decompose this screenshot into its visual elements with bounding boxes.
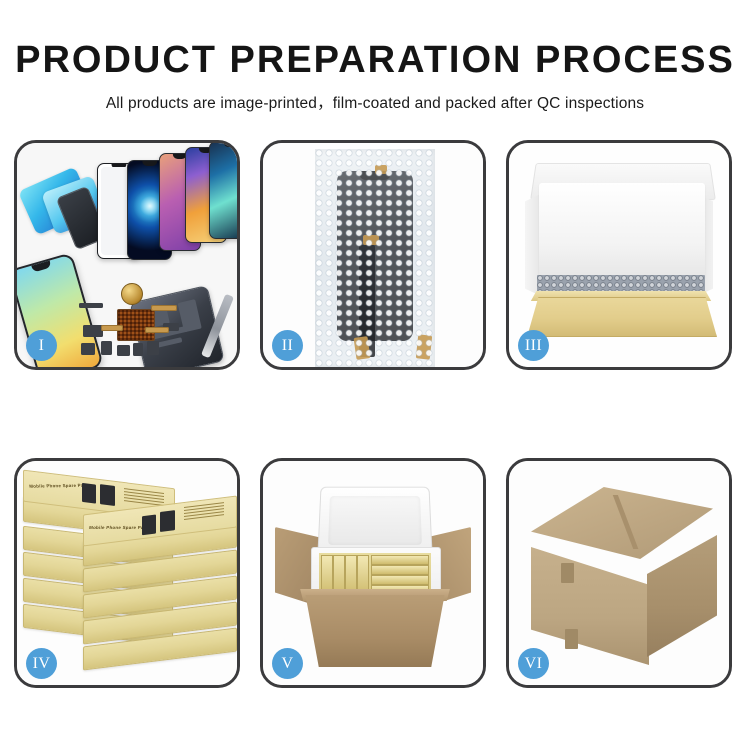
carton-top-face — [531, 487, 713, 559]
carton-front-face — [531, 547, 649, 665]
foam-box-lid — [317, 487, 432, 556]
carton-flap-tab — [561, 563, 574, 583]
bubble-texture — [315, 149, 435, 367]
process-step-panel-5: V — [260, 458, 486, 688]
step-badge-5: V — [272, 648, 303, 679]
process-step-panel-6: VI — [506, 458, 732, 688]
step-badge-3: III — [518, 330, 549, 361]
part-clip — [101, 341, 112, 355]
step-badge-1: I — [26, 330, 57, 361]
spare-parts-cluster — [79, 283, 199, 367]
bubble-wrap-bag — [315, 149, 435, 367]
part-strip — [79, 303, 103, 308]
process-step-panel-2: II — [260, 140, 486, 370]
carton-body — [301, 595, 449, 667]
step-badge-6: VI — [518, 648, 549, 679]
packed-boxes-inside — [319, 553, 431, 595]
part-bracket — [83, 325, 103, 337]
step-badge-2: II — [272, 330, 303, 361]
process-step-panel-1: I — [14, 140, 240, 370]
product-preparation-page: PRODUCT PREPARATION PROCESS All products… — [0, 0, 750, 750]
process-step-panel-4: Mobile Phone Spare Parts Mobile Phone Sp… — [14, 458, 240, 688]
product-photo-swatch — [100, 484, 115, 506]
phone-notch — [142, 161, 157, 166]
carton-side-face — [647, 535, 717, 657]
product-photo-swatch — [82, 483, 96, 504]
page-header: PRODUCT PREPARATION PROCESS All products… — [0, 0, 750, 114]
box-front-face — [527, 297, 717, 337]
page-title: PRODUCT PREPARATION PROCESS — [0, 38, 750, 82]
flex-cable-c — [145, 327, 169, 333]
phone-notch — [223, 143, 237, 147]
process-step-grid: I II — [14, 140, 738, 688]
product-photo-swatch — [142, 514, 156, 535]
phone-teal-wallpaper — [209, 143, 237, 239]
process-step-panel-3: III — [506, 140, 732, 370]
product-photo-swatch — [160, 510, 175, 532]
part-button — [117, 345, 130, 356]
white-foam-sheet — [539, 183, 705, 279]
page-subtitle: All products are image-printed，film-coat… — [0, 94, 750, 114]
part-screw-set — [133, 343, 143, 356]
step-badge-4: IV — [26, 648, 57, 679]
speaker-module — [121, 283, 143, 305]
carton-flap-tab — [565, 629, 578, 649]
flex-cable-a — [101, 325, 123, 331]
part-camera-module — [147, 341, 159, 355]
flex-cable-b — [151, 305, 177, 311]
part-connector — [81, 343, 95, 355]
label-spec-lines — [184, 502, 224, 522]
